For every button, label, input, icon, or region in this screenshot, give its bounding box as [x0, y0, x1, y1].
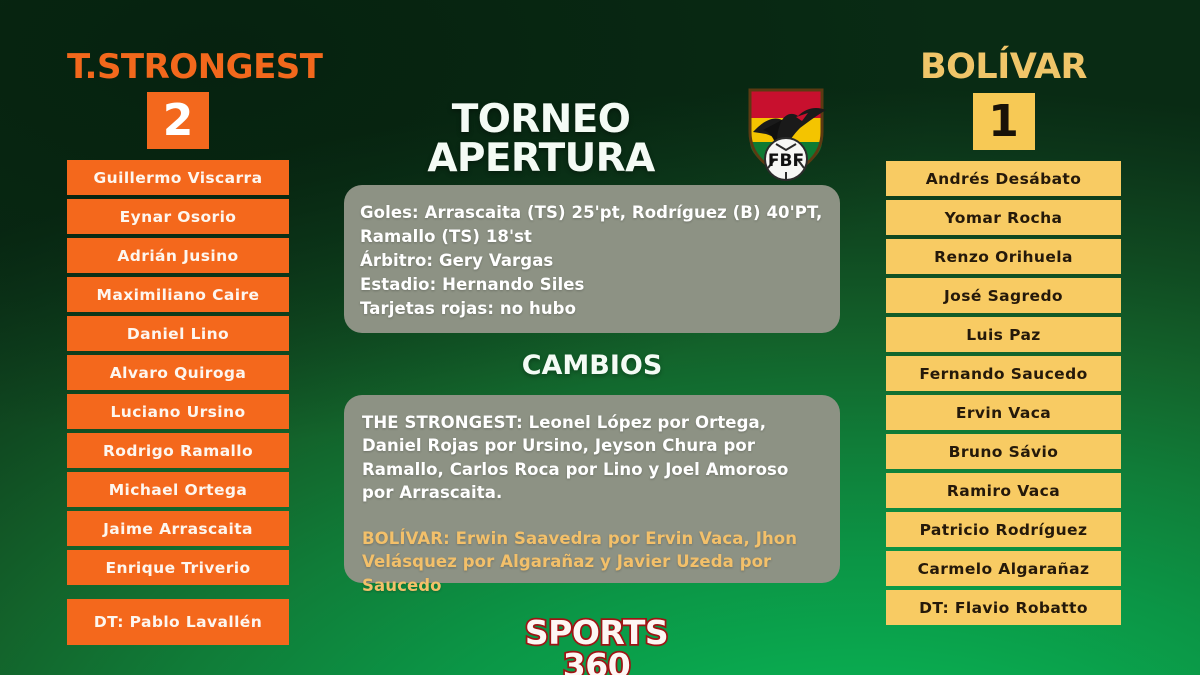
list-item: Ervin Vaca: [886, 395, 1121, 430]
home-team-score: 2: [147, 92, 209, 149]
page-title: TORNEO APERTURA: [350, 100, 732, 178]
substitutions-heading: CAMBIOS: [344, 350, 840, 381]
list-item: Jaime Arrascaita: [67, 511, 289, 546]
home-substitutions: THE STRONGEST: Leonel López por Ortega, …: [362, 411, 824, 505]
stadium-line: Estadio: Hernando Siles: [360, 273, 824, 297]
list-item: Guillermo Viscarra: [67, 160, 289, 195]
away-roster-list: Andrés Desábato Yomar Rocha Renzo Orihue…: [886, 161, 1121, 629]
list-item: Adrián Jusino: [67, 238, 289, 273]
list-item: Patricio Rodríguez: [886, 512, 1121, 547]
brand-name: SPORTS 360: [489, 616, 704, 675]
match-info-panel: Goles: Arrascaita (TS) 25'pt, Rodríguez …: [344, 185, 840, 333]
list-item: Luis Paz: [886, 317, 1121, 352]
lineup-graphic: T.STRONGEST 2 Guillermo Viscarra Eynar O…: [0, 0, 1200, 675]
list-item: Fernando Saucedo: [886, 356, 1121, 391]
referee-line: Árbitro: Gery Vargas: [360, 249, 824, 273]
substitutions-panel: THE STRONGEST: Leonel López por Ortega, …: [344, 395, 840, 583]
list-item: Andrés Desábato: [886, 161, 1121, 196]
list-item: Eynar Osorio: [67, 199, 289, 234]
list-item: Carmelo Algarañaz: [886, 551, 1121, 586]
list-item: Michael Ortega: [67, 472, 289, 507]
away-coach: DT: Flavio Robatto: [886, 590, 1121, 625]
list-item: Daniel Lino: [67, 316, 289, 351]
bolivia-football-federation-crest-icon: FBF: [730, 72, 842, 184]
brand-logo: SPORTS 360 siente la emoción: [489, 616, 704, 675]
list-item: Yomar Rocha: [886, 200, 1121, 235]
list-item: Alvaro Quiroga: [67, 355, 289, 390]
away-team-score: 1: [973, 93, 1035, 150]
list-item: Luciano Ursino: [67, 394, 289, 429]
home-coach: DT: Pablo Lavallén: [67, 599, 289, 645]
away-substitutions: BOLÍVAR: Erwin Saavedra por Ervin Vaca, …: [362, 527, 824, 597]
home-team-name: T.STRONGEST: [67, 50, 289, 84]
crest-label: FBF: [768, 151, 804, 171]
goals-line: Goles: Arrascaita (TS) 25'pt, Rodríguez …: [360, 201, 824, 249]
list-item: José Sagredo: [886, 278, 1121, 313]
home-team-column: T.STRONGEST 2 Guillermo Viscarra Eynar O…: [67, 0, 289, 649]
home-roster-list: Guillermo Viscarra Eynar Osorio Adrián J…: [67, 160, 289, 649]
list-item: Enrique Triverio: [67, 550, 289, 585]
away-team-name: BOLÍVAR: [886, 50, 1121, 85]
list-item: Bruno Sávio: [886, 434, 1121, 469]
away-team-column: BOLÍVAR 1 Andrés Desábato Yomar Rocha Re…: [886, 0, 1121, 629]
red-cards-line: Tarjetas rojas: no hubo: [360, 297, 824, 321]
list-item: Ramiro Vaca: [886, 473, 1121, 508]
list-item: Rodrigo Ramallo: [67, 433, 289, 468]
list-item: Renzo Orihuela: [886, 239, 1121, 274]
list-item: Maximiliano Caire: [67, 277, 289, 312]
